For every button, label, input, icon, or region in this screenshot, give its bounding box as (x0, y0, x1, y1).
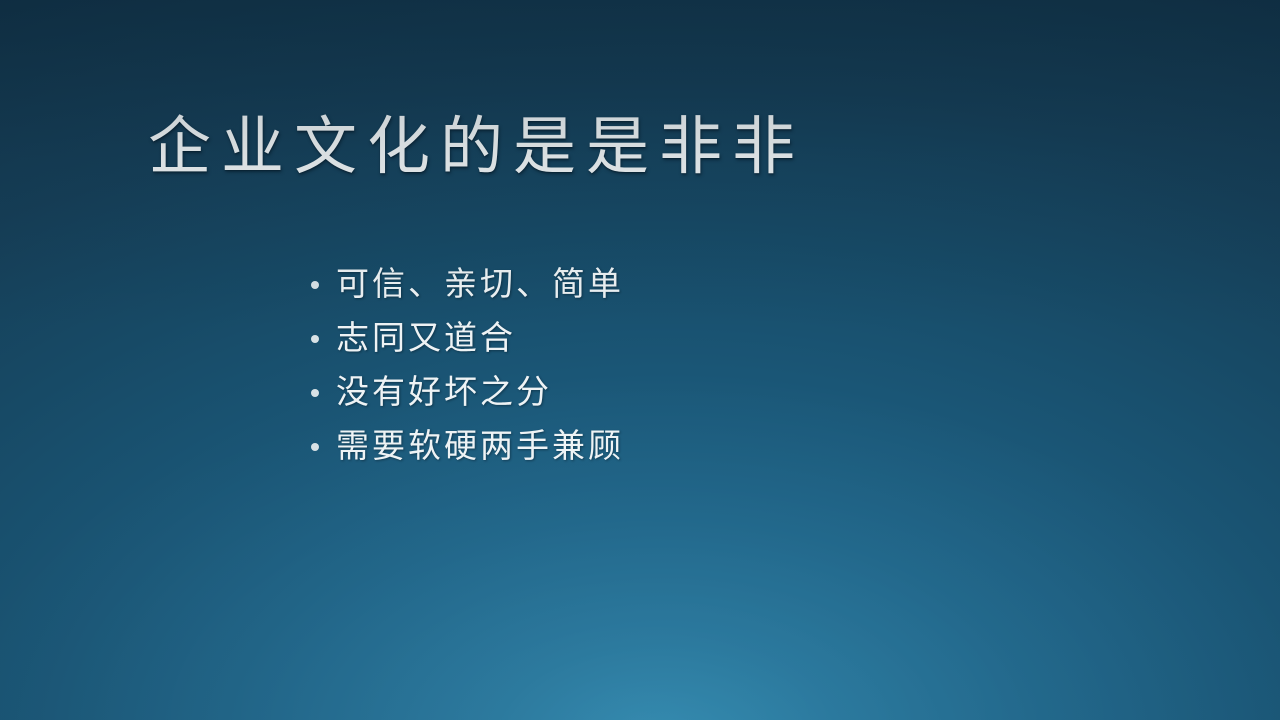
list-item-label: 需要软硬两手兼顾 (336, 430, 624, 465)
list-item-label: 没有好坏之分 (336, 376, 552, 411)
list-item-label: 可信、亲切、简单 (336, 268, 624, 303)
slide-body-placeholder[interactable]: 可信、亲切、简单 志同又道合 没有好坏之分 需要软硬两手兼顾 (308, 268, 1128, 465)
bullet-dot-icon (311, 335, 319, 343)
bullet-dot-icon (311, 281, 319, 289)
list-item[interactable]: 没有好坏之分 (308, 376, 1128, 411)
presentation-slide: 企业文化的是是非非 可信、亲切、简单 志同又道合 没有好坏之分 需要软硬两手兼顾 (0, 0, 1280, 720)
list-item[interactable]: 需要软硬两手兼顾 (308, 430, 1128, 465)
bullet-dot-icon (311, 443, 319, 451)
page-title: 企业文化的是是非非 (148, 112, 1148, 183)
list-item[interactable]: 可信、亲切、简单 (308, 268, 1128, 303)
slide-title-placeholder[interactable]: 企业文化的是是非非 (148, 112, 1148, 183)
list-item-label: 志同又道合 (336, 322, 516, 357)
bullet-dot-icon (311, 389, 319, 397)
list-item[interactable]: 志同又道合 (308, 322, 1128, 357)
bullet-list: 可信、亲切、简单 志同又道合 没有好坏之分 需要软硬两手兼顾 (308, 268, 1128, 465)
